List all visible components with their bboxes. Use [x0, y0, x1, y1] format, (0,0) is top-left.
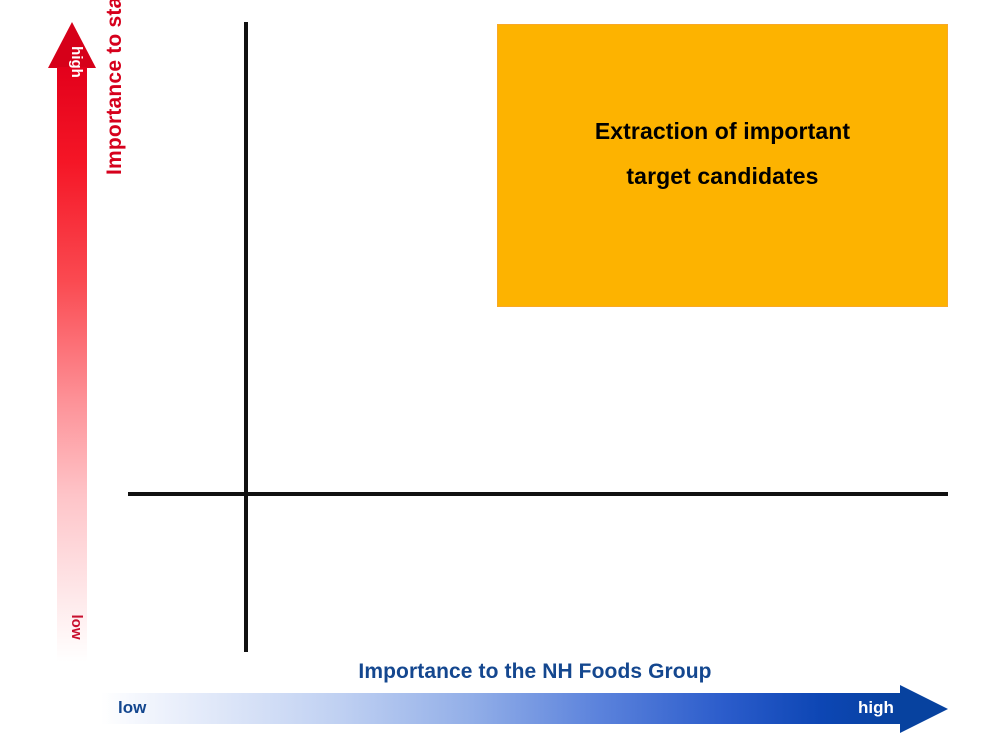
y-axis-arrow-shaft: [57, 67, 87, 662]
highlight-region-label: Extraction of important target candidate…: [498, 109, 947, 199]
x-axis-high-label: high: [858, 698, 894, 718]
x-axis-arrowhead-icon: [900, 685, 948, 733]
x-axis-title: Importance to the NH Foods Group: [0, 660, 1000, 684]
quadrant-horizontal-divider: [128, 492, 948, 496]
materiality-matrix-diagram: Extraction of important target candidate…: [0, 0, 1000, 750]
y-axis-low-label: low: [68, 604, 85, 650]
y-axis-title: Importance to stakeholders: [103, 0, 127, 175]
highlight-region-label-line1: Extraction of important: [498, 109, 947, 154]
highlight-region-extraction: Extraction of important target candidate…: [497, 24, 948, 307]
y-axis-high-label: high: [68, 39, 85, 85]
x-axis-arrow-shaft: [101, 693, 901, 724]
highlight-region-label-line2: target candidates: [498, 154, 947, 199]
x-axis-low-label: low: [118, 698, 146, 718]
quadrant-vertical-divider: [244, 22, 248, 652]
y-axis-gradient-arrow-icon: [48, 22, 96, 662]
x-axis-gradient-arrow-icon: low high: [101, 685, 949, 733]
